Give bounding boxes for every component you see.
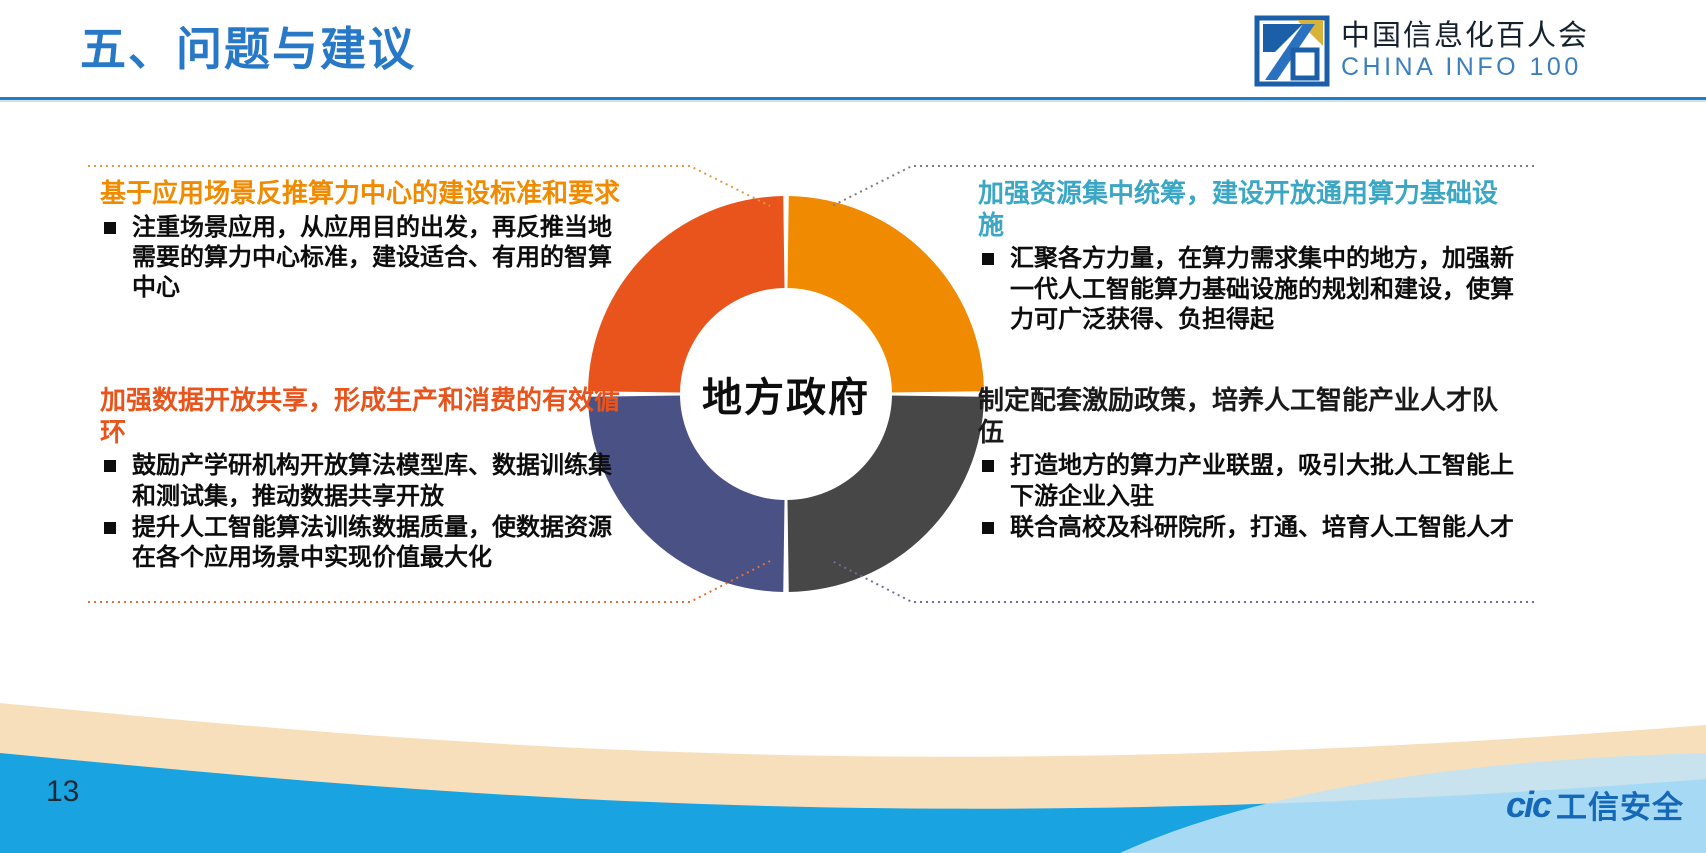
panel-top-left-heading: 基于应用场景反推算力中心的建设标准和要求: [100, 178, 630, 210]
list-item-text: 鼓励产学研机构开放算法模型库、数据训练集和测试集，推动数据共享开放: [132, 452, 612, 509]
panel-top-right-heading: 加强资源集中统筹，建设开放通用算力基础设施: [978, 178, 1518, 241]
bullet-square-icon: [104, 522, 116, 534]
brand-name-cn: 中国信息化百人会: [1341, 22, 1589, 51]
cic-logo: cic 工信安全: [1506, 782, 1684, 827]
list-item: 提升人工智能算法训练数据质量，使数据资源在各个应用场景中实现价值最大化: [100, 513, 630, 573]
brand-text: 中国信息化百人会 CHINA INFO 100: [1341, 22, 1589, 80]
bullet-square-icon: [104, 222, 116, 234]
list-item-text: 提升人工智能算法训练数据质量，使数据资源在各个应用场景中实现价值最大化: [132, 514, 612, 571]
list-item-text: 联合高校及科研院所，打通、培育人工智能人才: [1010, 514, 1514, 541]
donut-chart: 地方政府: [588, 196, 984, 592]
bottom-decoration: [0, 593, 1706, 853]
bullet-square-icon: [982, 460, 994, 472]
blue-wave: [0, 753, 1706, 853]
page-number: 13: [46, 775, 79, 809]
donut-center-label: 地方政府: [702, 365, 870, 423]
list-item: 打造地方的算力产业联盟，吸引大批人工智能上下游企业入驻: [978, 451, 1518, 511]
list-item-text: 汇聚各方力量，在算力需求集中的地方，加强新一代人工智能算力基础设施的规划和建设，…: [1010, 245, 1514, 332]
list-item-text: 注重场景应用，从应用目的出发，再反推当地需要的算力中心标准，建设适合、有用的智算…: [132, 214, 612, 301]
china-info-100-mark-icon: [1253, 14, 1331, 88]
bullet-square-icon: [982, 522, 994, 534]
bullet-square-icon: [982, 253, 994, 265]
panel-top-left: 基于应用场景反推算力中心的建设标准和要求 注重场景应用，从应用目的出发，再反推当…: [100, 178, 630, 304]
slide-header: 五、问题与建议 中国信息化百人会 CHINA INFO 100: [0, 0, 1706, 99]
cic-mark: cic: [1506, 784, 1550, 826]
header-divider: [0, 97, 1706, 100]
list-item: 鼓励产学研机构开放算法模型库、数据训练集和测试集，推动数据共享开放: [100, 451, 630, 511]
panel-bottom-left: 加强数据开放共享，形成生产和消费的有效循环 鼓励产学研机构开放算法模型库、数据训…: [100, 385, 630, 574]
cic-logo-label: 工信安全: [1556, 782, 1684, 827]
brand-logo: 中国信息化百人会 CHINA INFO 100: [1253, 14, 1589, 88]
bullet-square-icon: [104, 460, 116, 472]
panel-bottom-left-bullets: 鼓励产学研机构开放算法模型库、数据训练集和测试集，推动数据共享开放 提升人工智能…: [100, 451, 630, 573]
panel-bottom-right: 制定配套激励政策，培养人工智能产业人才队伍 打造地方的算力产业联盟，吸引大批人工…: [978, 385, 1518, 544]
sand-wave: [0, 703, 1706, 853]
panel-top-left-bullets: 注重场景应用，从应用目的出发，再反推当地需要的算力中心标准，建设适合、有用的智算…: [100, 213, 630, 304]
panel-bottom-left-heading: 加强数据开放共享，形成生产和消费的有效循环: [100, 385, 630, 448]
panel-top-right: 加强资源集中统筹，建设开放通用算力基础设施 汇聚各方力量，在算力需求集中的地方，…: [978, 178, 1518, 336]
page-title: 五、问题与建议: [80, 13, 416, 79]
list-item: 汇聚各方力量，在算力需求集中的地方，加强新一代人工智能算力基础设施的规划和建设，…: [978, 244, 1518, 335]
list-item: 联合高校及科研院所，打通、培育人工智能人才: [978, 513, 1518, 543]
list-item-text: 打造地方的算力产业联盟，吸引大批人工智能上下游企业入驻: [1010, 452, 1514, 509]
panel-top-right-bullets: 汇聚各方力量，在算力需求集中的地方，加强新一代人工智能算力基础设施的规划和建设，…: [978, 244, 1518, 335]
panel-bottom-right-bullets: 打造地方的算力产业联盟，吸引大批人工智能上下游企业入驻 联合高校及科研院所，打通…: [978, 451, 1518, 543]
brand-name-en: CHINA INFO 100: [1341, 55, 1589, 80]
list-item: 注重场景应用，从应用目的出发，再反推当地需要的算力中心标准，建设适合、有用的智算…: [100, 213, 630, 304]
panel-bottom-right-heading: 制定配套激励政策，培养人工智能产业人才队伍: [978, 385, 1518, 448]
